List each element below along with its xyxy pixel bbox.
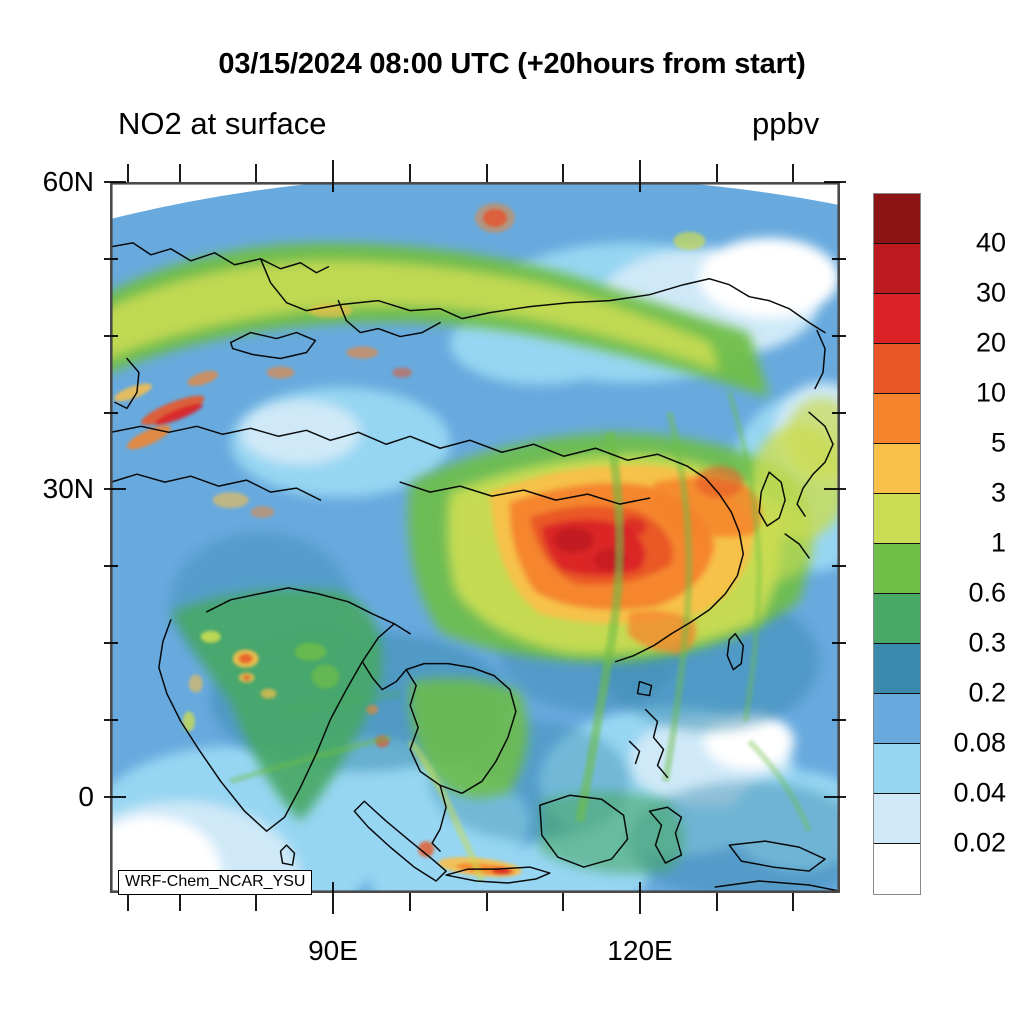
colorbar-tick-label-10: 10 (976, 378, 1006, 409)
x-tick-label-120e: 120E (607, 935, 672, 967)
colorbar-tick-label-40: 40 (976, 228, 1006, 259)
field-label: NO2 at surface (118, 106, 326, 142)
colorbar-tick-label-0.3: 0.3 (968, 628, 1006, 659)
model-provenance-label: WRF-Chem_NCAR_YSU (118, 870, 312, 895)
colorbar-band-5 (874, 444, 920, 494)
colorbar-band-12 (874, 794, 920, 844)
colorbar-tick-label-0.2: 0.2 (968, 678, 1006, 709)
colorbar-band-2 (874, 294, 920, 344)
map-plot-area[interactable] (110, 182, 840, 893)
colorbar-tick-label-30: 30 (976, 278, 1006, 309)
colorbar-band-4 (874, 394, 920, 444)
colorbar-band-11 (874, 744, 920, 794)
colorbar-band-7 (874, 544, 920, 594)
units-label: ppbv (752, 106, 819, 142)
no2-concentration-map (111, 183, 839, 892)
figure-title: 03/15/2024 08:00 UTC (+20hours from star… (0, 48, 1024, 81)
colorbar-tick-label-0.08: 0.08 (953, 728, 1006, 759)
colorbar-tick-label-0.04: 0.04 (953, 778, 1006, 809)
colorbar-tick-label-5: 5 (991, 428, 1006, 459)
colorbar[interactable] (873, 193, 921, 895)
figure-root: 03/15/2024 08:00 UTC (+20hours from star… (0, 0, 1024, 1024)
y-tick-label-30n: 30N (16, 473, 94, 505)
colorbar-tick-label-1: 1 (991, 528, 1006, 559)
colorbar-band-10 (874, 694, 920, 744)
colorbar-tick-label-20: 20 (976, 328, 1006, 359)
colorbar-tick-label-0.02: 0.02 (953, 828, 1006, 859)
colorbar-band-3 (874, 344, 920, 394)
colorbar-labels: 403020105310.60.30.20.080.040.02 (930, 0, 1024, 1024)
colorbar-band-13 (874, 844, 920, 894)
y-tick-label-0: 0 (16, 781, 94, 813)
y-tick-label-60n: 60N (16, 166, 94, 198)
colorbar-band-1 (874, 244, 920, 294)
colorbar-tick-label-3: 3 (991, 478, 1006, 509)
colorbar-band-6 (874, 494, 920, 544)
colorbar-band-0 (874, 194, 920, 244)
x-tick-label-90e: 90E (308, 935, 358, 967)
colorbar-band-9 (874, 644, 920, 694)
colorbar-tick-label-0.6: 0.6 (968, 578, 1006, 609)
colorbar-band-8 (874, 594, 920, 644)
